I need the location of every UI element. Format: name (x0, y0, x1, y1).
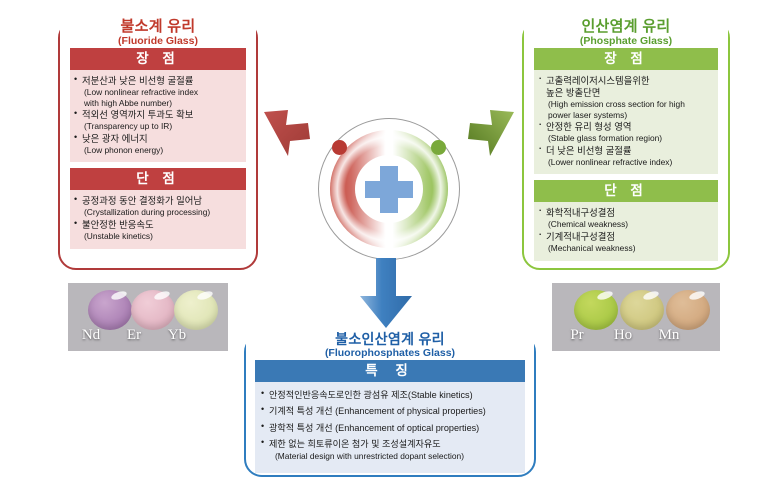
item-en: (Mechanical weakness) (546, 243, 712, 254)
phosphate-glass-samples-photo: Pr Ho Mn (552, 283, 720, 351)
list-item: 기계적 특성 개선 (Enhancement of physical prope… (261, 405, 517, 417)
item-kr: 적외선 영역까지 투과도 확보 (82, 109, 240, 121)
diagram-canvas: 불소계 유리 (Fluoride Glass) 장 점 저분산과 낮은 비선형 … (0, 0, 779, 487)
glass-disc-yb (174, 290, 218, 330)
arrow-right-to-center-icon (456, 108, 516, 160)
arrow-left-to-center-icon (262, 108, 322, 160)
fluoride-cons-header: 단 점 (70, 168, 246, 190)
list-item: 광학적 특성 개선 (Enhancement of optical proper… (261, 422, 517, 434)
item-kr: 낮은 광자 에너지 (82, 133, 240, 145)
list-item: 저분산과 낮은 비선형 굴절률 (Low nonlinear refractiv… (74, 75, 240, 108)
phosphate-content: 장 점 고출력레이저시스템을위한 높은 방출단면 (High emission … (534, 48, 718, 260)
sample-label-pr: Pr (552, 327, 602, 344)
features-body: 안정적인반응속도로인한 광섬유 제조(Stable kinetics) 기계적 … (255, 382, 525, 473)
fluoride-title-kr: 불소계 유리 (66, 18, 250, 35)
fluoride-glass-panel: 불소계 유리 (Fluoride Glass) 장 점 저분산과 낮은 비선형 … (58, 20, 258, 270)
list-item: 안정한 유리 형성 영역 (Stable glass formation reg… (538, 121, 712, 144)
phosphate-title-en: (Phosphate Glass) (530, 35, 722, 48)
feature-line: 광학적 특성 개선 (Enhancement of optical proper… (269, 423, 479, 433)
glass-disc-pr (574, 290, 618, 330)
features-header: 특 징 (255, 360, 525, 382)
fluorophosphates-title: 불소인산염계 유리 (Fluorophosphates Glass) (246, 331, 534, 360)
sample-label-mn: Mn (644, 327, 694, 344)
list-item: 화학적내구성결점 (Chemical weakness) (538, 207, 712, 230)
item-en: (Chemical weakness) (546, 219, 712, 230)
list-item: 불안정한 반응속도 (Unstable kinetics) (74, 219, 240, 242)
list-item: 안정적인반응속도로인한 광섬유 제조(Stable kinetics) (261, 389, 517, 401)
glass-disc-nd (88, 290, 132, 330)
item-kr: 공정과정 동안 결정화가 일어남 (82, 195, 240, 207)
item-en: (Transparency up to IR) (82, 121, 240, 132)
list-item: 기계적내구성결점 (Mechanical weakness) (538, 231, 712, 254)
fluorophosphates-title-en: (Fluorophosphates Glass) (252, 347, 528, 360)
item-kr: 화학적내구성결점 (546, 207, 712, 219)
phosphate-pros-body: 고출력레이저시스템을위한 높은 방출단면 (High emission cros… (534, 70, 718, 174)
phosphate-cons-body: 화학적내구성결점 (Chemical weakness) 기계적내구성결점 (M… (534, 202, 718, 260)
phosphate-pros-header: 장 점 (534, 48, 718, 70)
sample-label-ho: Ho (598, 327, 648, 344)
phosphate-glass-title: 인산염계 유리 (Phosphate Glass) (524, 18, 728, 48)
item-kr: 불안정한 반응속도 (82, 219, 240, 231)
fluorophosphates-content: 특 징 안정적인반응속도로인한 광섬유 제조(Stable kinetics) … (255, 360, 525, 468)
feature-line: 제한 없는 희토류이온 첨가 및 조성설계자유도 (269, 439, 441, 449)
item-en: (Unstable kinetics) (82, 231, 240, 242)
phosphate-cons-header: 단 점 (534, 180, 718, 202)
item-en: (Stable glass formation region) (546, 133, 712, 144)
fluoride-cons-body: 공정과정 동안 결정화가 일어남 (Crystallization during… (70, 190, 246, 248)
item-en: (Low nonlinear refractive index with hig… (82, 87, 240, 108)
glass-disc-mn (666, 290, 710, 330)
item-kr: 기계적내구성결점 (546, 231, 712, 243)
feature-line: 기계적 특성 개선 (Enhancement of physical prope… (269, 406, 486, 416)
list-item: 적외선 영역까지 투과도 확보 (Transparency up to IR) (74, 109, 240, 132)
item-kr: 저분산과 낮은 비선형 굴절률 (82, 75, 240, 87)
item-kr: 고출력레이저시스템을위한 높은 방출단면 (546, 75, 712, 99)
list-item: 더 낮은 비선형 굴절률 (Lower nonlinear refractive… (538, 145, 712, 168)
list-item: 낮은 광자 에너지 (Low phonon energy) (74, 133, 240, 156)
fluoride-pros-body: 저분산과 낮은 비선형 굴절률 (Low nonlinear refractiv… (70, 70, 246, 162)
list-item: 공정과정 동안 결정화가 일어남 (Crystallization during… (74, 195, 240, 218)
plus-icon-vertical (380, 166, 398, 213)
item-en: (High emission cross section for high po… (546, 99, 712, 120)
combination-emblem (318, 118, 460, 260)
fluorophosphates-glass-panel: 불소인산염계 유리 (Fluorophosphates Glass) 특 징 안… (244, 334, 536, 477)
fluoride-glass-samples-photo: Nd Er Yb (68, 283, 228, 351)
feature-line: 안정적인반응속도로인한 광섬유 제조(Stable kinetics) (269, 390, 473, 400)
item-en: (Lower nonlinear refractive index) (546, 157, 712, 168)
list-item: 고출력레이저시스템을위한 높은 방출단면 (High emission cros… (538, 75, 712, 120)
fluoride-node-dot (332, 140, 347, 155)
phosphate-glass-panel: 인산염계 유리 (Phosphate Glass) 장 점 고출력레이저시스템을… (522, 20, 730, 270)
fluoride-glass-title: 불소계 유리 (Fluoride Glass) (60, 18, 256, 48)
fluorophosphates-title-kr: 불소인산염계 유리 (252, 331, 528, 347)
feature-subline: (Material design with unrestricted dopan… (269, 451, 517, 462)
arrow-down-to-result-icon (357, 258, 415, 330)
fluoride-pros-header: 장 점 (70, 48, 246, 70)
list-item: 제한 없는 희토류이온 첨가 및 조성설계자유도 (Material desig… (261, 438, 517, 461)
item-en: (Low phonon energy) (82, 145, 240, 156)
phosphate-node-dot (431, 140, 446, 155)
sample-label-yb: Yb (152, 327, 202, 344)
item-en: (Crystallization during processing) (82, 207, 240, 218)
item-kr: 더 낮은 비선형 굴절률 (546, 145, 712, 157)
glass-disc-ho (620, 290, 664, 330)
fluoride-content: 장 점 저분산과 낮은 비선형 굴절률 (Low nonlinear refra… (70, 48, 246, 260)
phosphate-title-kr: 인산염계 유리 (530, 18, 722, 35)
fluoride-title-en: (Fluoride Glass) (66, 35, 250, 48)
glass-disc-er (131, 290, 175, 330)
item-kr: 안정한 유리 형성 영역 (546, 121, 712, 133)
